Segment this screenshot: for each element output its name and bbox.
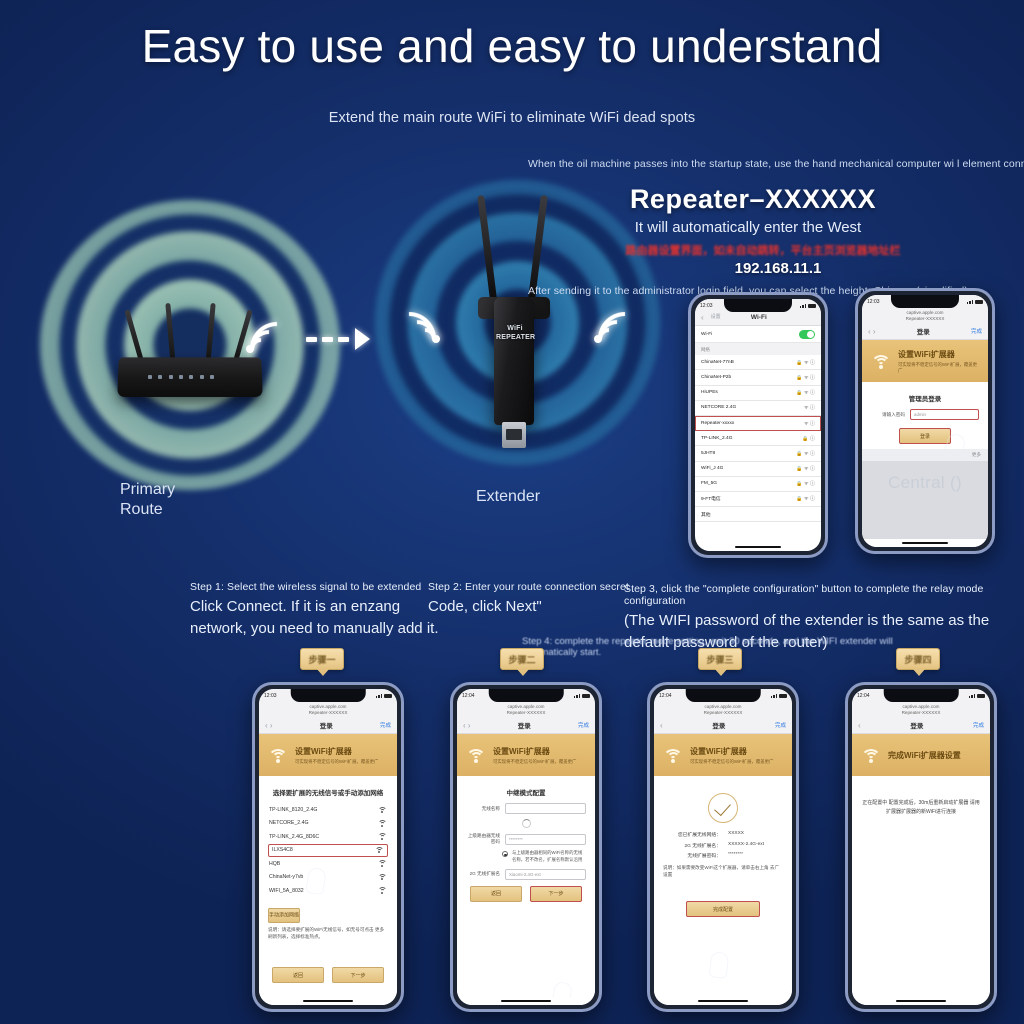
- poster-root: Easy to use and easy to understand Exten…: [0, 0, 1024, 1024]
- login-button-row: 登录: [871, 428, 979, 444]
- home-indicator: [259, 997, 397, 1005]
- wifi-icon: [465, 747, 487, 763]
- battery-icon: [975, 300, 983, 304]
- relay-config-pane: 中继模式配置 无线名称 上级路由器无线密码 ******** 与上级路由器相同的…: [457, 776, 595, 997]
- repeater-ssid-sub: It will automatically enter the West: [528, 219, 1024, 236]
- page-title: 登录: [320, 720, 333, 730]
- phone-screen: 12:04 captive.apple.com Repeater-XXXXXX …: [457, 689, 595, 1005]
- summary-row: 2G 无线扩展名： XXXXX-2.4G-ext: [663, 842, 783, 849]
- phone-screen: 12:03 captive.apple.com Repeater-XXXXXX …: [259, 689, 397, 1005]
- step-bubble-1: 步骤一: [300, 648, 344, 670]
- phone-screen: 12:04 captive.apple.com Repeater-XXXXXX …: [852, 689, 990, 1005]
- status-time: 12:04: [462, 693, 475, 699]
- radio-label: 与上级路由器相同的WiFi名称的无线名称，若不改名，扩展名称默认沿用: [512, 850, 586, 863]
- phone-notch: [724, 299, 792, 312]
- password-field-row: 上级路由器无线密码 ********: [466, 833, 586, 845]
- battery-icon: [582, 694, 590, 698]
- browser-nav-bar: ‹ 登录 完成: [852, 719, 990, 734]
- phone-screen: 12:03 captive.apple.com Repeater-XXXXXX …: [862, 295, 988, 547]
- battery-icon: [384, 694, 392, 698]
- signal-bars-icon: [376, 694, 383, 698]
- page-title: 登录: [712, 720, 725, 730]
- status-time: 12:04: [659, 693, 672, 699]
- list-item[interactable]: TP-LINK_2.4G_8D6C: [268, 830, 388, 843]
- signal-bars-icon: [967, 300, 974, 304]
- done-button[interactable]: 完成: [973, 721, 984, 729]
- extender-logo-line1: WiFi: [496, 325, 534, 334]
- done-button[interactable]: 完成: [578, 721, 589, 729]
- list-item[interactable]: ChinaNet-77nB🔒 ᯤ ⓘ: [695, 355, 821, 370]
- more-link[interactable]: 更多: [972, 452, 981, 458]
- url-ssid: Repeater-XXXXXX: [862, 316, 988, 322]
- extender-antenna-left: [477, 195, 498, 307]
- extender-logo-line2: REPEATER: [496, 334, 534, 343]
- signal-icon: [378, 860, 387, 867]
- router-wifi-waves-icon: [244, 310, 306, 388]
- phone-notch: [884, 689, 959, 702]
- header-subtitle: 可实现将不稳定信号的WiFi扩展，覆盖更广: [898, 362, 980, 373]
- summary-row: 您已扩展无线网络： XXXXX: [663, 831, 783, 838]
- phone-wifi-settings: 12:03 ‹ 设置 Wi-Fi Wi-Fi 网络 ChinaNet-77nB🔒…: [688, 292, 828, 558]
- setup-header-banner: 设置WiFi扩展器 可实现将不稳定信号的WiFi扩展，覆盖更广: [457, 734, 595, 776]
- step-bubble-3: 步骤三: [698, 648, 742, 670]
- next-button[interactable]: 下一步: [530, 886, 582, 902]
- list-item[interactable]: NETCORE 2.4Gᯤ ⓘ: [695, 401, 821, 416]
- step3-small: Step 3, click the "complete configuratio…: [624, 583, 1024, 607]
- phone-screen: 12:03 ‹ 设置 Wi-Fi Wi-Fi 网络 ChinaNet-77nB🔒…: [695, 299, 821, 551]
- list-item[interactable]: 5JHT8🔒 ᯤ ⓘ: [695, 446, 821, 461]
- phone-relay-config: 12:04 captive.apple.com Repeater-XXXXXX …: [450, 682, 602, 1012]
- router-led-strip: [148, 375, 214, 379]
- back-button[interactable]: 返回: [272, 967, 324, 983]
- section-title: 管理员登录: [871, 393, 979, 403]
- setup-header-banner: 设置WiFi扩展器 可实现将不稳定信号的WiFi扩展，覆盖更广: [862, 340, 988, 382]
- list-item[interactable]: ChinaNet-y7vb: [268, 871, 388, 884]
- wifi-network-list: ChinaNet-77nB🔒 ᯤ ⓘ ChinaNet-P2b🔒 ᯤ ⓘ HiU…: [695, 355, 821, 543]
- footer-bar: 更多: [862, 449, 988, 461]
- ext-name-label: 2G 无线扩展名: [466, 871, 500, 877]
- password-label: 请输入密码: [871, 412, 905, 418]
- wifi-icon: [267, 747, 289, 763]
- primary-route-label: Primary Route: [120, 480, 175, 520]
- battery-icon: [977, 694, 985, 698]
- list-item[interactable]: HiUPEs🔒 ᯤ ⓘ: [695, 386, 821, 401]
- done-button[interactable]: 完成: [380, 721, 391, 729]
- list-item-selected[interactable]: ILXS4C8: [268, 844, 388, 858]
- list-item[interactable]: WiFi_J 4G🔒 ᯤ ⓘ: [695, 462, 821, 477]
- url-ssid: Repeater-XXXXXX: [654, 710, 792, 716]
- router-ip-address: 192.168.11.1: [528, 260, 1024, 277]
- signal-bars-icon: [574, 694, 581, 698]
- back-chevron-icon[interactable]: ‹: [858, 721, 861, 730]
- setup-header-banner: 设置WiFi扩展器 可实现将不稳定信号的WiFi扩展，覆盖更广: [259, 734, 397, 776]
- router-antenna-3: [205, 303, 215, 365]
- step1-big: Click Connect. If it is an enzang networ…: [190, 596, 440, 640]
- signal-icon: [375, 847, 384, 854]
- status-time: 12:03: [700, 303, 713, 309]
- wifi-icon: [860, 747, 882, 763]
- password-input[interactable]: admin: [910, 409, 979, 420]
- status-time: 12:03: [867, 299, 880, 305]
- browser-url-bar[interactable]: captive.apple.com Repeater-XXXXXX: [457, 702, 595, 719]
- list-item[interactable]: 9-FT电信🔒 ᯤ ⓘ: [695, 492, 821, 507]
- step1-small: Step 1: Select the wireless signal to be…: [190, 581, 440, 593]
- header-title: 设置WiFi扩展器: [690, 746, 773, 757]
- browser-nav-bar: ‹ › 登录 完成: [457, 719, 595, 734]
- header-title: 设置WiFi扩展器: [898, 349, 980, 360]
- repeater-ssid: Repeater–XXXXXX: [528, 184, 1024, 215]
- login-button[interactable]: 登录: [899, 428, 951, 444]
- signal-icon: [378, 833, 387, 840]
- browser-nav-bar: ‹ 登录 完成: [654, 719, 792, 734]
- extender-wifi-waves-right-icon: [592, 300, 654, 378]
- wifi-toggle-switch[interactable]: [799, 330, 815, 339]
- ssid-field-row: 无线名称: [466, 803, 586, 814]
- hand-cursor-icon: [709, 952, 730, 980]
- signal-bars-icon: [771, 694, 778, 698]
- loading-spinner-icon: [522, 819, 531, 828]
- done-button[interactable]: 完成: [971, 327, 982, 335]
- same-ssid-radio-row[interactable]: 与上级路由器相同的WiFi名称的无线名称，若不改名，扩展名称默认沿用: [502, 850, 586, 863]
- list-item-repeater[interactable]: Repeater-xxxxxᯤ ⓘ: [695, 416, 821, 431]
- signal-icon: [378, 874, 387, 881]
- password-input[interactable]: ********: [505, 834, 586, 845]
- action-button-row: 返回 下一步: [466, 886, 586, 902]
- signal-icon: [378, 887, 387, 894]
- watermark: Central (): [862, 473, 988, 493]
- back-button[interactable]: 返回: [470, 886, 522, 902]
- nav-arrows-icon[interactable]: ‹ ›: [265, 721, 273, 730]
- list-item[interactable]: 其他: [695, 507, 821, 522]
- back-chevron-icon[interactable]: ‹: [660, 721, 663, 730]
- wifi-master-toggle-row[interactable]: Wi-Fi: [695, 326, 821, 343]
- top-right-instructions: When the oil machine passes into the sta…: [528, 158, 1024, 297]
- setup-header-banner: 设置WiFi扩展器 可实现将不稳定信号的WiFi扩展，覆盖更广: [654, 734, 792, 776]
- wifi-page-title: Wi-Fi: [751, 314, 767, 321]
- back-chevron-icon[interactable]: ‹ 设置: [701, 313, 721, 322]
- nav-arrows-icon[interactable]: ‹ ›: [868, 327, 876, 336]
- wifi-nav-bar: ‹ 设置 Wi-Fi: [695, 312, 821, 326]
- page-title: 登录: [910, 720, 923, 730]
- extender-usb-connector: [502, 422, 526, 448]
- list-item[interactable]: NETCORE_2.4G: [268, 817, 388, 830]
- network-select-pane: 选择要扩展的无线信号或手动添加网络 TP-LINK_8120_2.4G NETC…: [259, 776, 397, 997]
- step2-big: Code, click Next": [428, 596, 638, 618]
- home-indicator: [852, 997, 990, 1005]
- router-antenna-2: [165, 303, 175, 365]
- success-check-icon: [708, 793, 738, 823]
- extender-wifi-waves-left-icon: [380, 300, 442, 378]
- login-form-pane: 管理员登录 请输入密码 admin 登录: [862, 382, 988, 449]
- bottom-grey-pane: Central (): [862, 461, 988, 539]
- phone-notch: [891, 295, 959, 308]
- header-subtitle: 可实现将不稳定信号的WiFi扩展，覆盖更广: [690, 759, 773, 765]
- action-button-row: 完成配置: [663, 901, 783, 917]
- ssid-label: 无线名称: [466, 806, 500, 812]
- list-item[interactable]: ChinaNet-P2b🔒 ᯤ ⓘ: [695, 370, 821, 385]
- completion-message: 正在配置中 配置完成后，30m后重新启动扩展器 请用扩展器扩展器的新WiFi进行…: [861, 799, 981, 817]
- red-blurred-note: 路由器设置界面，如未自动跳转，平台主页浏览器地址栏: [528, 242, 1024, 258]
- wifi-icon: [870, 353, 892, 369]
- header-subtitle: 可实现将不稳定信号的WiFi扩展，覆盖更广: [493, 759, 576, 765]
- section-title: 选择要扩展的无线信号或手动添加网络: [268, 787, 388, 797]
- helper-note: 说明：请选择要扩展的WiFi无线信号，如无号可点击 更多刷新列表，选择标准热点。: [268, 927, 388, 941]
- section-title: 中继模式配置: [466, 787, 586, 797]
- header-title: 设置WiFi扩展器: [493, 746, 576, 757]
- signal-icon: [378, 820, 387, 827]
- step2-small: Step 2: Enter your route connection secr…: [428, 581, 638, 593]
- home-indicator: [654, 997, 792, 1005]
- battery-icon: [808, 304, 816, 308]
- url-ssid: Repeater-XXXXXX: [259, 710, 397, 716]
- home-indicator: [457, 997, 595, 1005]
- page-title: 登录: [518, 720, 531, 730]
- status-time: 12:03: [264, 693, 277, 699]
- complete-pane: 正在配置中 配置完成后，30m后重新启动扩展器 请用扩展器扩展器的新WiFi进行…: [852, 776, 990, 997]
- list-item[interactable]: TP-LINK_8120_2.4G: [268, 803, 388, 816]
- url-ssid: Repeater-XXXXXX: [852, 710, 990, 716]
- browser-url-bar[interactable]: captive.apple.com Repeater-XXXXXX: [852, 702, 990, 719]
- hand-cursor-icon: [551, 981, 573, 997]
- phone-notch: [291, 689, 366, 702]
- extender-body: [494, 297, 534, 425]
- browser-url-bar[interactable]: captive.apple.com Repeater-XXXXXX: [862, 308, 988, 325]
- phone-admin-login: 12:03 captive.apple.com Repeater-XXXXXX …: [855, 288, 995, 554]
- list-item[interactable]: WIFI_5A_8032: [268, 884, 388, 897]
- ext-name-field-row: 2G 无线扩展名 Xiaomi-2.4G-ext: [466, 869, 586, 880]
- step-bubble-2: 步骤二: [500, 648, 544, 670]
- done-button[interactable]: 完成: [775, 721, 786, 729]
- header-subtitle: 可实现将不稳定信号的WiFi扩展，覆盖更广: [295, 759, 378, 765]
- browser-nav-bar: ‹ › 登录 完成: [259, 719, 397, 734]
- manual-add-button[interactable]: 手动添加网络: [268, 908, 300, 923]
- home-indicator: [862, 539, 988, 547]
- phone-config-success: 12:04 captive.apple.com Repeater-XXXXXX …: [647, 682, 799, 1012]
- signal-bars-icon: [969, 694, 976, 698]
- caption-step-2: Step 2: Enter your route connection secr…: [428, 581, 638, 618]
- list-item[interactable]: FM_5G🔒 ᯤ ⓘ: [695, 477, 821, 492]
- browser-nav-bar: ‹ › 登录 完成: [862, 325, 988, 340]
- battery-icon: [779, 694, 787, 698]
- ext-name-input[interactable]: Xiaomi-2.4G-ext: [505, 869, 586, 880]
- page-subtitle: Extend the main route WiFi to eliminate …: [0, 110, 1024, 126]
- helper-note: 说明：如果需要改变WiFi这个扩展器，请单击右上角 去广设置: [663, 865, 783, 879]
- phone-notch: [489, 689, 564, 702]
- extender-logo: WiFi REPEATER: [496, 325, 534, 343]
- complete-config-button[interactable]: 完成配置: [686, 901, 760, 917]
- router-antenna-1: [124, 309, 144, 364]
- phone-select-network: 12:03 captive.apple.com Repeater-XXXXXX …: [252, 682, 404, 1012]
- wifi-toggle-label: Wi-Fi: [701, 332, 712, 337]
- ssid-input[interactable]: [505, 803, 586, 814]
- action-button-row: 返回 下一步: [268, 967, 388, 983]
- signal-bars-icon: [800, 304, 807, 308]
- phone-screen: 12:04 captive.apple.com Repeater-XXXXXX …: [654, 689, 792, 1005]
- list-item[interactable]: TP-LINK_2.4G🔒 ⓘ: [695, 431, 821, 446]
- header-title: 设置WiFi扩展器: [295, 746, 378, 757]
- browser-url-bar[interactable]: captive.apple.com Repeater-XXXXXX: [259, 702, 397, 719]
- tr-line-1: When the oil machine passes into the sta…: [528, 158, 1024, 170]
- extender-label: Extender: [476, 487, 540, 507]
- list-item[interactable]: HQB: [268, 857, 388, 870]
- phone-setup-complete: 12:04 captive.apple.com Repeater-XXXXXX …: [845, 682, 997, 1012]
- page-title: Easy to use and easy to understand: [0, 22, 1024, 70]
- page-title: 登录: [917, 326, 930, 336]
- radio-icon[interactable]: [502, 851, 508, 857]
- password-label: 上级路由器无线密码: [466, 833, 500, 845]
- caption-step-1: Step 1: Select the wireless signal to be…: [190, 581, 440, 640]
- networks-group-header: 网络: [695, 343, 821, 355]
- setup-header-banner: 完成WiFi扩展器设置: [852, 734, 990, 776]
- url-ssid: Repeater-XXXXXX: [457, 710, 595, 716]
- status-time: 12:04: [857, 693, 870, 699]
- signal-icon: [378, 807, 387, 814]
- phone-notch: [686, 689, 761, 702]
- step-bubble-4: 步骤四: [896, 648, 940, 670]
- header-title: 完成WiFi扩展器设置: [888, 750, 961, 761]
- home-indicator: [695, 543, 821, 551]
- browser-url-bar[interactable]: captive.apple.com Repeater-XXXXXX: [654, 702, 792, 719]
- success-pane: 您已扩展无线网络： XXXXX 2G 无线扩展名： XXXXX-2.4G-ext…: [654, 776, 792, 997]
- summary-row: 无线扩展密码： ********: [663, 852, 783, 859]
- next-button[interactable]: 下一步: [332, 967, 384, 983]
- password-field-row: 请输入密码 admin: [871, 409, 979, 420]
- nav-arrows-icon[interactable]: ‹ ›: [463, 721, 471, 730]
- flow-arrow-icon: [306, 324, 372, 354]
- wifi-icon: [662, 747, 684, 763]
